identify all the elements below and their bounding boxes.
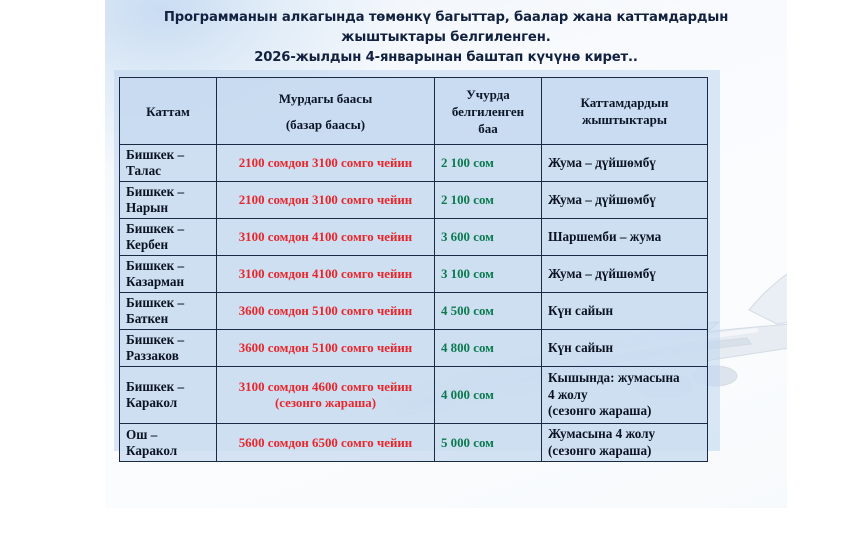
- cell-new-price: 3 100 сом: [435, 256, 542, 293]
- header-route: Каттам: [120, 78, 217, 145]
- cell-new-price: 4 000 сом: [435, 367, 542, 424]
- cell-old-price: 3100 сомдон 4600 сомго чейин (сезонго жа…: [217, 367, 435, 424]
- cell-frequency: Күн сайын: [542, 330, 708, 367]
- cell-old-price: 3100 сомдон 4100 сомго чейин: [217, 256, 435, 293]
- cell-route: Бишкек – Талас: [120, 145, 217, 182]
- cell-route: Бишкек – Кербен: [120, 219, 217, 256]
- cell-frequency: Жума – дүйшөмбү: [542, 256, 708, 293]
- cell-route: Бишкек – Раззаков: [120, 330, 217, 367]
- table-row: Бишкек – Баткен3600 сомдон 5100 сомго че…: [120, 293, 708, 330]
- header-old-price-line1: Мурдагы баасы: [223, 90, 428, 107]
- cell-route: Бишкек – Баткен: [120, 293, 217, 330]
- cell-old-price: 5600 сомдон 6500 сомго чейин: [217, 424, 435, 462]
- table-row: Бишкек – Казарман3100 сомдон 4100 сомго …: [120, 256, 708, 293]
- cell-frequency: Жумасына 4 жолу (сезонго жараша): [542, 424, 708, 462]
- cell-frequency: Шаршемби – жума: [542, 219, 708, 256]
- table-row: Бишкек – Нарын2100 сомдон 3100 сомго чей…: [120, 182, 708, 219]
- cell-frequency: Жума – дүйшөмбү: [542, 182, 708, 219]
- cell-new-price: 2 100 сом: [435, 182, 542, 219]
- title-line-1: Программанын алкагында төмөнкү багыттар,…: [105, 8, 787, 28]
- cell-old-price: 3100 сомдон 4100 сомго чейин: [217, 219, 435, 256]
- presentation-slide: Программанын алкагында төмөнкү багыттар,…: [105, 0, 787, 508]
- cell-route: Бишкек – Нарын: [120, 182, 217, 219]
- slide-title: Программанын алкагында төмөнкү багыттар,…: [105, 8, 787, 68]
- table-row: Ош – Каракол5600 сомдон 6500 сомго чейин…: [120, 424, 708, 462]
- fares-table-body: Бишкек – Талас2100 сомдон 3100 сомго чей…: [120, 145, 708, 462]
- cell-route: Бишкек – Каракол: [120, 367, 217, 424]
- table-row: Бишкек – Каракол3100 сомдон 4600 сомго ч…: [120, 367, 708, 424]
- cell-new-price: 4 800 сом: [435, 330, 542, 367]
- cell-old-price: 3600 сомдон 5100 сомго чейин: [217, 330, 435, 367]
- table-row: Бишкек – Кербен3100 сомдон 4100 сомго че…: [120, 219, 708, 256]
- header-old-price: Мурдагы баасы (базар баасы): [217, 78, 435, 145]
- cell-frequency: Жума – дүйшөмбү: [542, 145, 708, 182]
- cell-new-price: 4 500 сом: [435, 293, 542, 330]
- cell-old-price: 2100 сомдон 3100 сомго чейин: [217, 182, 435, 219]
- cell-new-price: 2 100 сом: [435, 145, 542, 182]
- header-frequency: Каттамдардын жыштыктары: [542, 78, 708, 145]
- cell-old-price: 3600 сомдон 5100 сомго чейин: [217, 293, 435, 330]
- cell-route: Ош – Каракол: [120, 424, 217, 462]
- fares-table: Каттам Мурдагы баасы (базар баасы) Учурд…: [119, 77, 708, 462]
- cell-new-price: 5 000 сом: [435, 424, 542, 462]
- cell-frequency: Кышында: жумасына 4 жолу (сезонго жараша…: [542, 367, 708, 424]
- title-line-2: жыштыктары белгиленген.: [105, 28, 787, 48]
- cell-new-price: 3 600 сом: [435, 219, 542, 256]
- table-row: Бишкек – Талас2100 сомдон 3100 сомго чей…: [120, 145, 708, 182]
- header-new-price: Учурда белгиленген баа: [435, 78, 542, 145]
- header-old-price-line2: (базар баасы): [223, 116, 428, 133]
- table-row: Бишкек – Раззаков3600 сомдон 5100 сомго …: [120, 330, 708, 367]
- title-line-3: 2026-жылдын 4-январынан баштап күчүнө ки…: [105, 48, 787, 68]
- cell-route: Бишкек – Казарман: [120, 256, 217, 293]
- cell-frequency: Күн сайын: [542, 293, 708, 330]
- cell-old-price: 2100 сомдон 3100 сомго чейин: [217, 145, 435, 182]
- table-header-row: Каттам Мурдагы баасы (базар баасы) Учурд…: [120, 78, 708, 145]
